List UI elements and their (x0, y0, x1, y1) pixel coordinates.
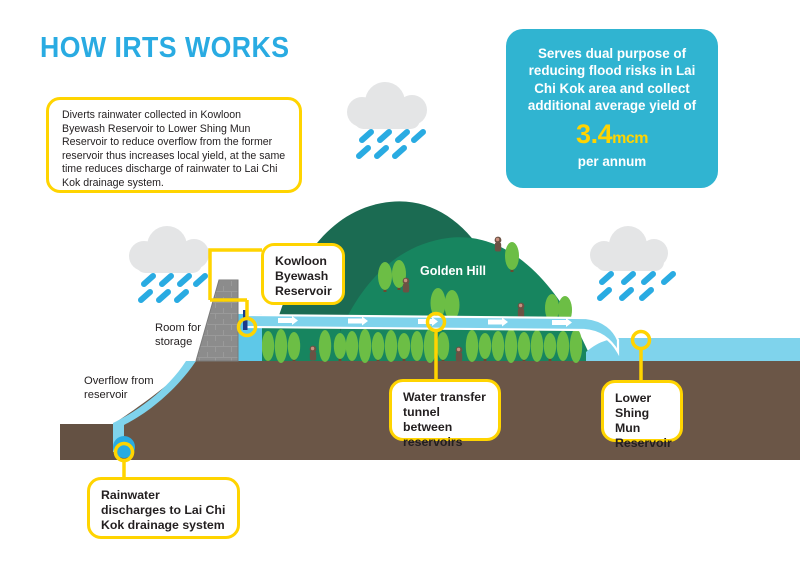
callout-water-transfer-tunnel: Water transfer tunnel between reservoirs (389, 379, 501, 441)
info-card-value: 3.4 (576, 119, 612, 149)
info-card-period: per annum (520, 154, 704, 170)
page-title: HOW IRTS WORKS (40, 32, 290, 65)
label-overflow-from-reservoir: Overflow from reservoir (84, 375, 180, 402)
info-card: Serves dual purpose of reducing flood ri… (506, 29, 718, 188)
info-card-unit: mcm (612, 130, 648, 147)
label-room-for-storage: Room for storage (155, 322, 235, 349)
info-card-value-row: 3.4mcm (520, 119, 704, 154)
callout-lower-shing-mun-reservoir: Lower Shing Mun Reservoir (601, 380, 683, 442)
description-callout: Diverts rainwater collected in Kowloon B… (46, 97, 302, 193)
cloud-left (129, 226, 209, 300)
infographic-canvas: HOW IRTS WORKS Diverts rainwater collect… (0, 0, 800, 566)
cloud-top (347, 82, 427, 156)
label-golden-hill: Golden Hill (420, 265, 486, 279)
callout-kowloon-byewash-reservoir: Kowloon Byewash Reservoir (261, 243, 345, 305)
cloud-right (590, 226, 673, 298)
info-card-text: Serves dual purpose of reducing flood ri… (520, 45, 704, 115)
callout-rainwater-discharges: Rainwater discharges to Lai Chi Kok drai… (87, 477, 240, 539)
